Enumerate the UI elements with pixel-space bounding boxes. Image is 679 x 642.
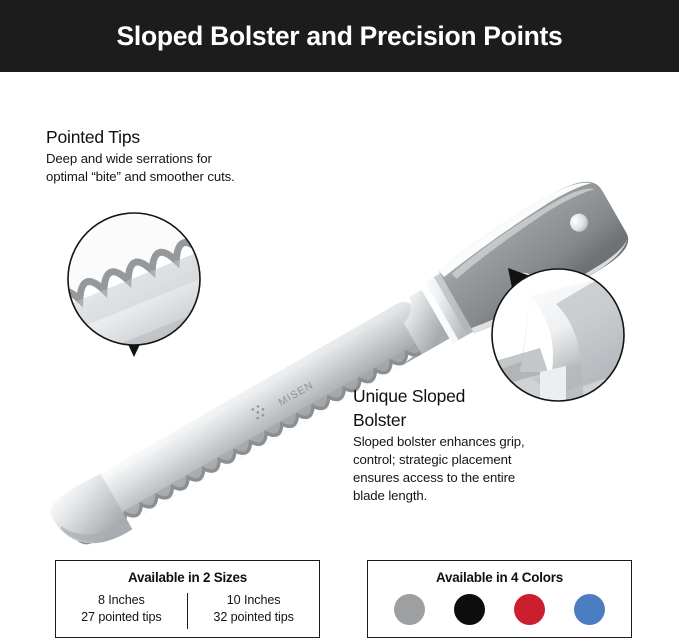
sizes-info-box: Available in 2 Sizes 8 Inches 27 pointed…: [55, 560, 320, 638]
size-option-8-inch: 8 Inches 27 pointed tips: [56, 592, 187, 632]
annotation-body-line: Deep and wide serrations for: [46, 150, 316, 168]
annotation-body-line: blade length.: [353, 487, 568, 505]
sizes-box-title: Available in 2 Sizes: [56, 570, 319, 585]
color-swatch-row: [368, 594, 631, 625]
annotation-body-line: control; strategic placement: [353, 451, 568, 469]
color-swatch-black[interactable]: [454, 594, 485, 625]
annotation-body-line: ensures access to the entire: [353, 469, 568, 487]
annotation-body-line: Sloped bolster enhances grip,: [353, 433, 568, 451]
bolster-callout-circle: [492, 268, 624, 401]
annotation-title: Unique Sloped: [353, 385, 568, 407]
colors-info-box: Available in 4 Colors: [367, 560, 632, 638]
color-swatch-gray[interactable]: [394, 594, 425, 625]
size-label: 10 Inches: [188, 592, 319, 609]
size-tips-label: 27 pointed tips: [56, 609, 187, 626]
sizes-row: 8 Inches 27 pointed tips 10 Inches 32 po…: [56, 592, 319, 632]
size-tips-label: 32 pointed tips: [188, 609, 319, 626]
annotation-title: Pointed Tips: [46, 127, 316, 148]
annotation-title: Bolster: [353, 409, 568, 431]
size-label: 8 Inches: [56, 592, 187, 609]
annotation-pointed-tips: Pointed Tips Deep and wide serrations fo…: [46, 127, 316, 185]
color-swatch-blue[interactable]: [574, 594, 605, 625]
annotation-body-line: optimal “bite” and smoother cuts.: [46, 168, 316, 186]
page-title: Sloped Bolster and Precision Points: [0, 0, 679, 72]
header-bar: Sloped Bolster and Precision Points: [0, 0, 679, 72]
colors-box-title: Available in 4 Colors: [368, 570, 631, 585]
size-option-10-inch: 10 Inches 32 pointed tips: [188, 592, 319, 632]
serration-callout-circle: [50, 213, 259, 397]
color-swatch-red[interactable]: [514, 594, 545, 625]
annotation-sloped-bolster: Unique Sloped Bolster Sloped bolster enh…: [353, 385, 568, 504]
